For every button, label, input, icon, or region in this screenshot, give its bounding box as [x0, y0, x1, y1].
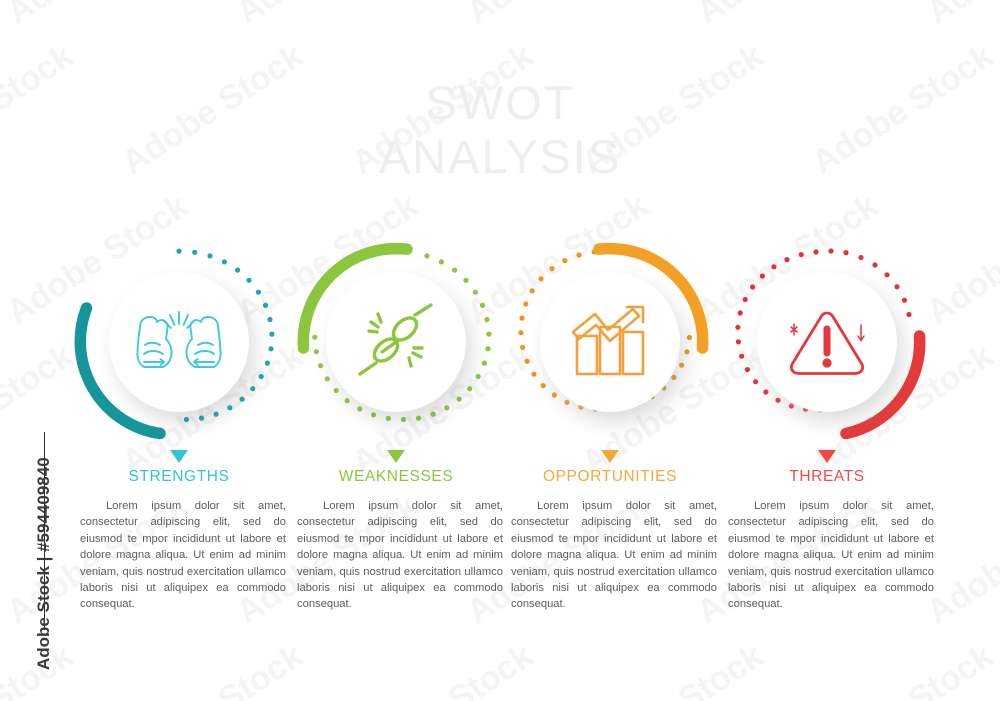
swot-label-opportunities: OPPORTUNITIES: [495, 468, 725, 486]
swot-label-weaknesses: WEAKNESSES: [281, 468, 511, 486]
icon-disc-opportunities[interactable]: [540, 272, 680, 412]
warning-triangle-icon: [781, 305, 873, 379]
swot-item-weaknesses: WEAKNESSES Lorem ipsum dolor sit amet, c…: [281, 236, 511, 646]
broken-chain-icon: [353, 303, 439, 381]
ring-opportunities: [495, 236, 725, 448]
swot-body-opportunities: Lorem ipsum dolor sit amet, consectetur …: [511, 498, 717, 613]
swot-item-strengths: STRENGTHS Lorem ipsum dolor sit amet, co…: [64, 236, 294, 646]
caret-threats: [818, 450, 836, 463]
swot-body-weaknesses: Lorem ipsum dolor sit amet, consectetur …: [297, 498, 503, 613]
swot-item-threats: THREATS Lorem ipsum dolor sit amet, cons…: [712, 236, 942, 646]
swot-label-strengths: STRENGTHS: [64, 468, 294, 486]
icon-disc-strengths[interactable]: [109, 272, 249, 412]
ring-weaknesses: [281, 236, 511, 448]
caret-opportunities: [601, 450, 619, 463]
flexing-arms-icon: [133, 306, 225, 378]
swot-body-threats: Lorem ipsum dolor sit amet, consectetur …: [728, 498, 934, 613]
growth-bar-chart-icon: [567, 304, 653, 380]
swot-body-strengths: Lorem ipsum dolor sit amet, consectetur …: [80, 498, 286, 613]
swot-item-opportunities: OPPORTUNITIES Lorem ipsum dolor sit amet…: [495, 236, 725, 646]
caret-weaknesses: [387, 450, 405, 463]
ring-strengths: [64, 236, 294, 448]
icon-disc-weaknesses[interactable]: [326, 272, 466, 412]
swot-diagram: STRENGTHS Lorem ipsum dolor sit amet, co…: [0, 0, 1000, 701]
caret-strengths: [170, 450, 188, 463]
ring-threats: [712, 236, 942, 448]
swot-label-threats: THREATS: [712, 468, 942, 486]
icon-disc-threats[interactable]: [757, 272, 897, 412]
